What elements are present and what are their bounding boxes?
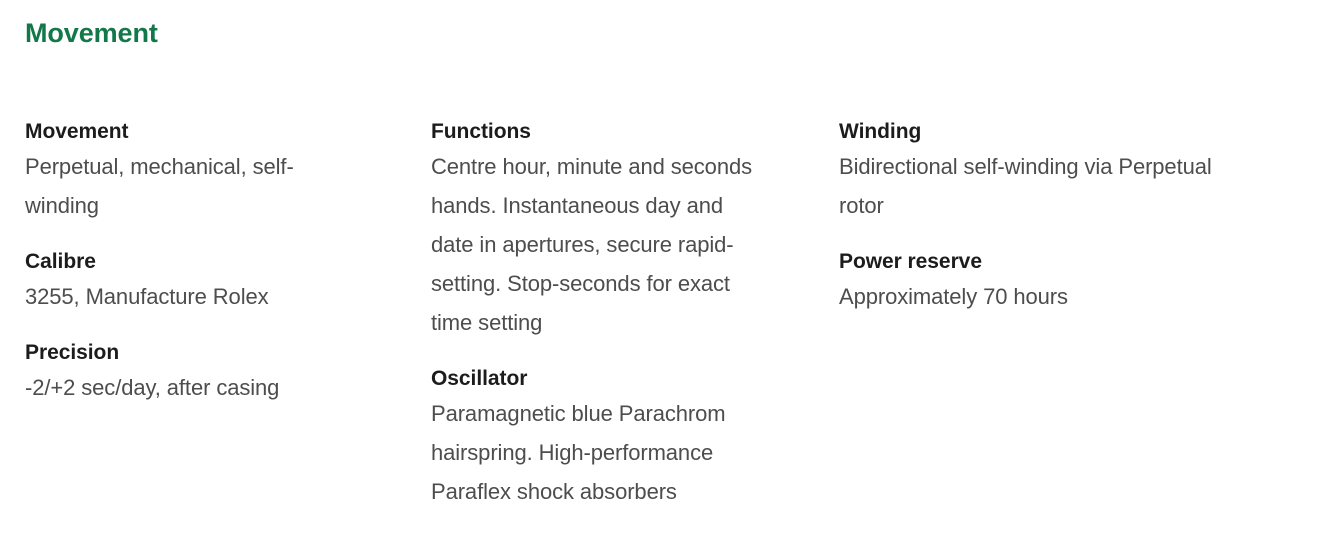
spec-term-movement: Movement — [25, 116, 355, 147]
spec-description-movement: Perpetual, mechanical, self-winding — [25, 147, 355, 225]
spec-term-power-reserve: Power reserve — [839, 246, 1227, 277]
spec-group-oscillator: Oscillator Paramagnetic blue Parachrom h… — [431, 363, 757, 511]
spec-term-calibre: Calibre — [25, 246, 355, 277]
spec-description-functions: Centre hour, minute and seconds hands. I… — [431, 147, 757, 342]
spec-description-winding: Bidirectional self-winding via Perpetual… — [839, 147, 1227, 225]
spec-description-precision: -2/+2 sec/day, after casing — [25, 368, 355, 407]
spec-description-calibre: 3255, Manufacture Rolex — [25, 277, 355, 316]
spec-term-oscillator: Oscillator — [431, 363, 757, 394]
specification-columns: Movement Perpetual, mechanical, self-win… — [0, 116, 1325, 511]
spec-term-precision: Precision — [25, 337, 355, 368]
spec-group-movement: Movement Perpetual, mechanical, self-win… — [25, 116, 355, 225]
spec-column-2: Functions Centre hour, minute and second… — [403, 116, 807, 511]
page-title: Movement — [25, 16, 158, 50]
spec-group-functions: Functions Centre hour, minute and second… — [431, 116, 757, 342]
spec-term-winding: Winding — [839, 116, 1227, 147]
spec-group-calibre: Calibre 3255, Manufacture Rolex — [25, 246, 355, 316]
spec-column-3: Winding Bidirectional self-winding via P… — [807, 116, 1267, 316]
spec-description-oscillator: Paramagnetic blue Parachrom hairspring. … — [431, 394, 757, 511]
spec-column-1: Movement Perpetual, mechanical, self-win… — [0, 116, 403, 407]
spec-description-power-reserve: Approximately 70 hours — [839, 277, 1227, 316]
movement-specification-panel: Movement Movement Perpetual, mechanical,… — [0, 0, 1325, 536]
spec-group-power-reserve: Power reserve Approximately 70 hours — [839, 246, 1227, 316]
spec-group-winding: Winding Bidirectional self-winding via P… — [839, 116, 1227, 225]
spec-group-precision: Precision -2/+2 sec/day, after casing — [25, 337, 355, 407]
spec-term-functions: Functions — [431, 116, 757, 147]
